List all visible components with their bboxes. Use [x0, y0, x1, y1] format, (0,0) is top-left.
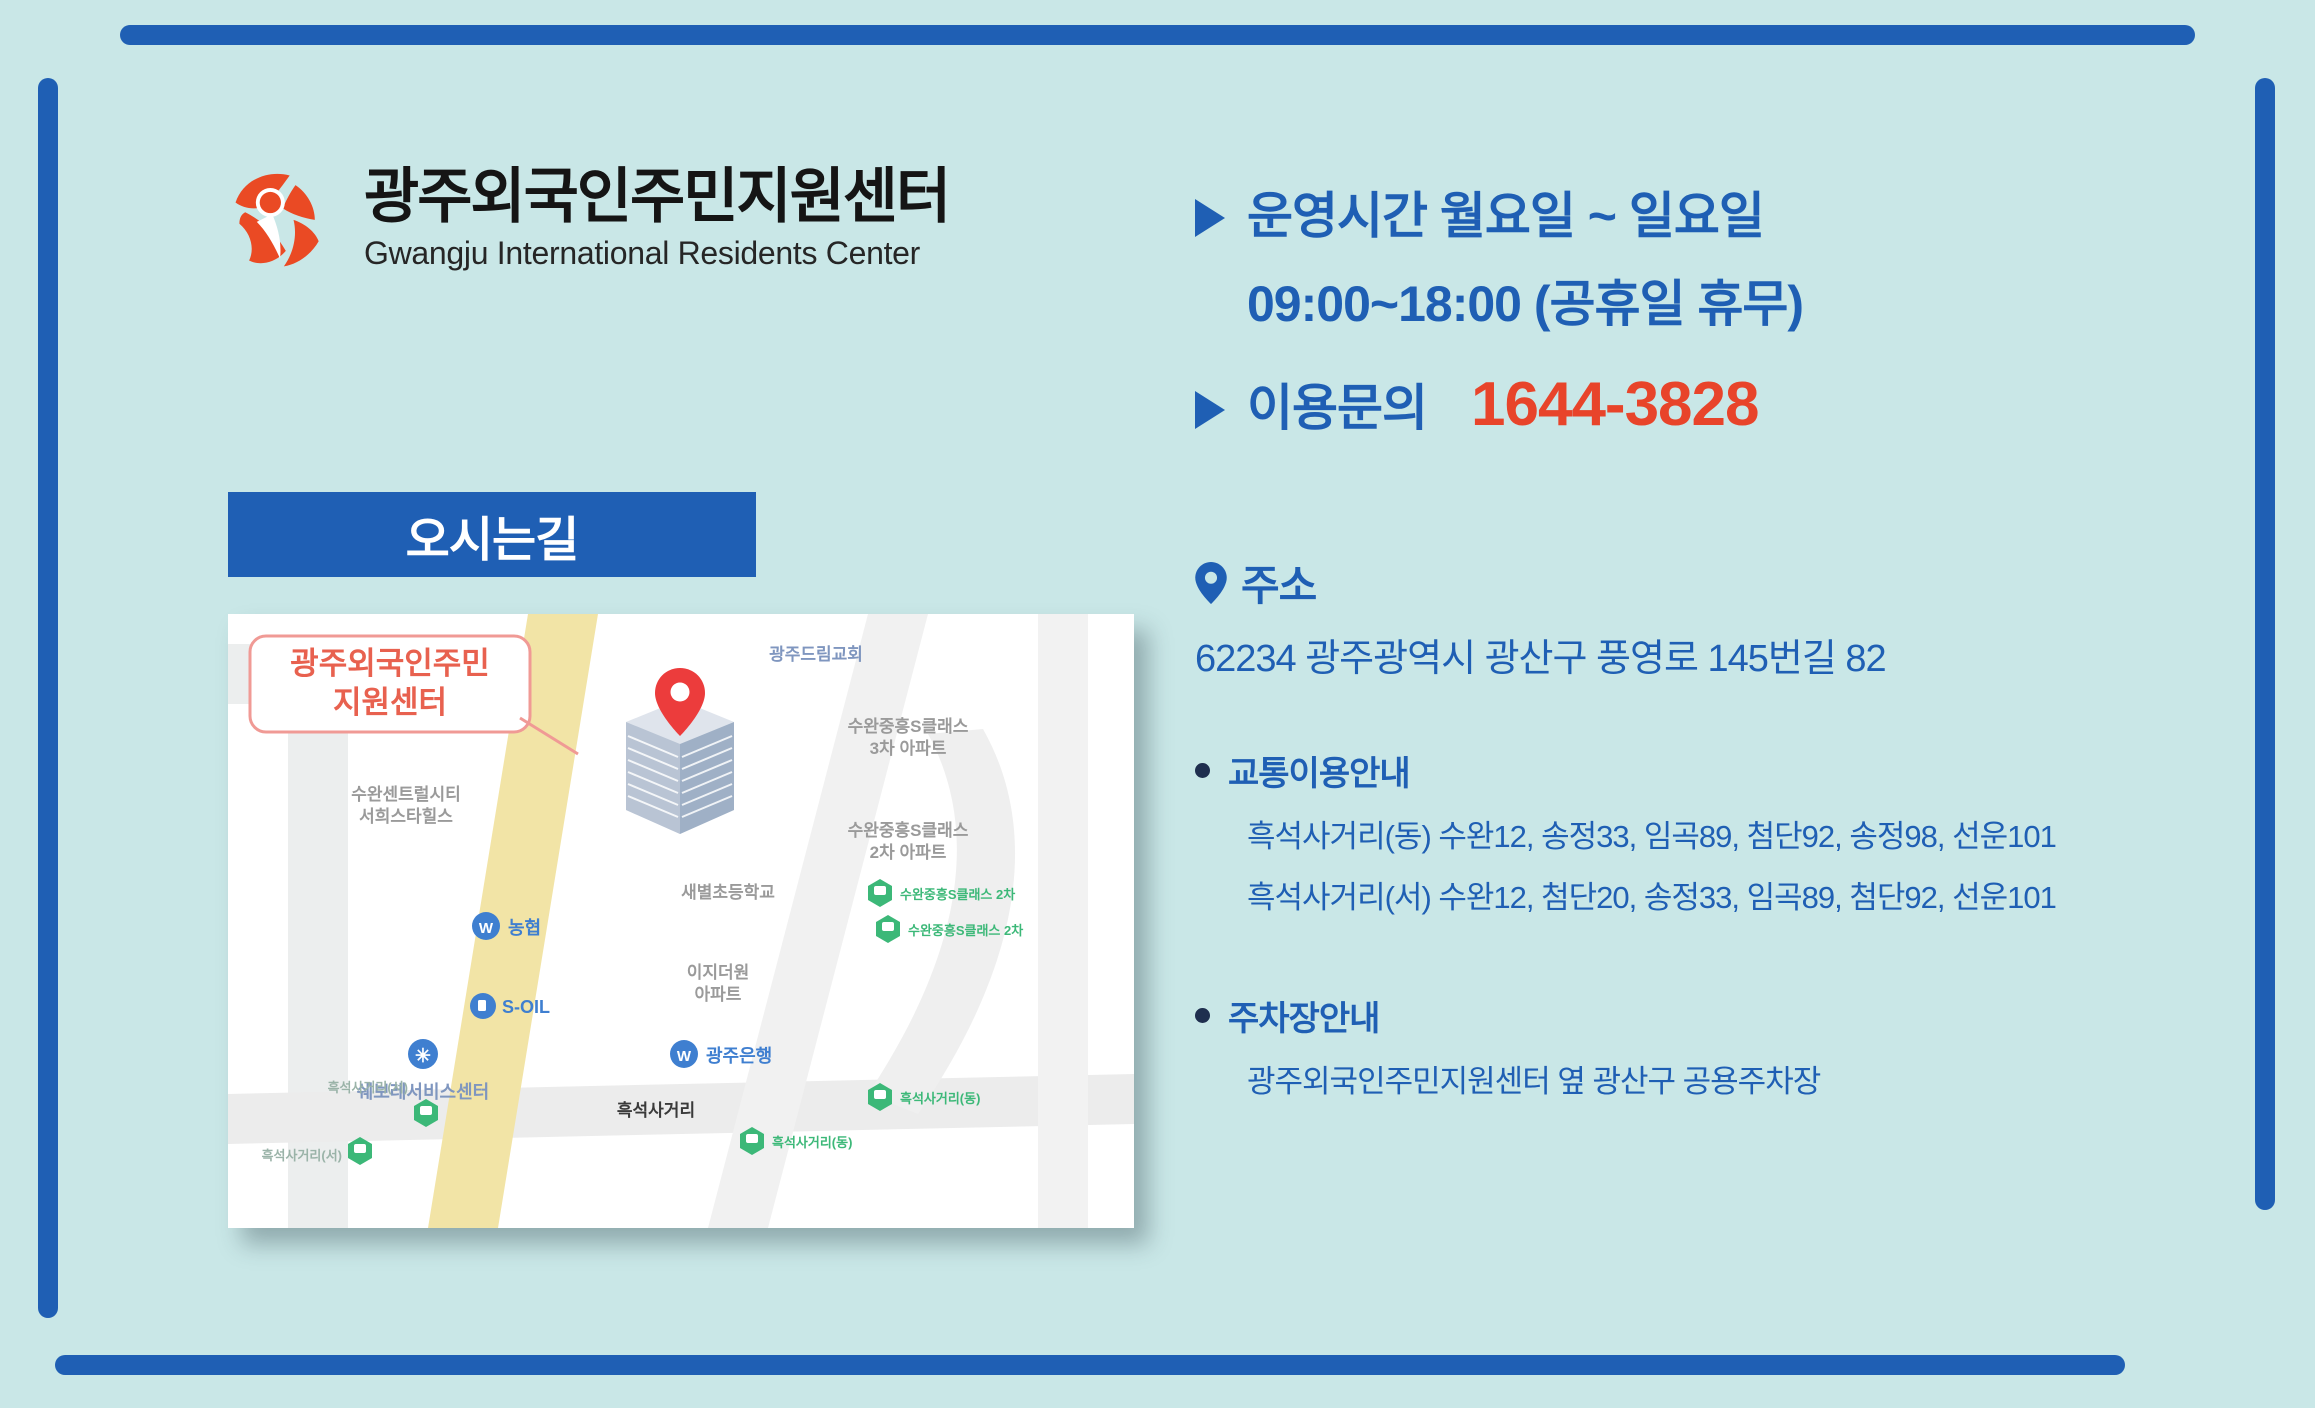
transport-title: 교통이용안내: [1228, 746, 1410, 795]
map-label-sclass3-2: 3차 아파트: [870, 739, 947, 758]
map-label-central-city-1: 수완센트럴시티: [351, 785, 460, 804]
gwangju-irc-logo-mark-icon: [222, 160, 338, 276]
logo-title-korean: 광주외국인주민지원센터: [364, 163, 949, 230]
directions-banner: 오시는길: [228, 492, 756, 577]
map-label-heukseok-intersection: 흑석사거리: [617, 1100, 695, 1120]
map-callout-line2: 지원센터: [333, 685, 447, 720]
address-value: 62234 광주광역시 광산구 풍영로 145번길 82: [1195, 627, 2215, 682]
bullet-dot-icon: [1195, 763, 1210, 778]
map-bus-stop-label-heukseok-east-b: 흑석사거리(동): [772, 1135, 852, 1150]
map-label-ezdaewon-2: 아파트: [695, 985, 742, 1004]
map-bus-stop-label-sclass-a: 수완중흥S클래스 2차: [900, 887, 1015, 902]
directions-banner-label: 오시는길: [406, 500, 579, 570]
operating-hours-row: 운영시간 월요일 ~ 일요일: [1195, 176, 2215, 248]
location-map[interactable]: 광주외국인주민 지원센터: [228, 614, 1134, 1228]
transport-head: 교통이용안내: [1195, 746, 2215, 795]
map-bus-stop-label-sclass-b: 수완중흥S클래스 2차: [908, 923, 1023, 938]
map-pin-icon: [1195, 562, 1227, 604]
logo-text-wrap: 광주외국인주민지원센터 Gwangju International Reside…: [364, 163, 949, 273]
inquiry-phone-number[interactable]: 1644-3828: [1471, 369, 1759, 440]
operating-hours-label: 운영시간 월요일 ~ 일요일: [1247, 176, 1764, 248]
map-label-ezdaewon-1: 이지더원: [687, 963, 750, 982]
map-poi-label-soil: S-OIL: [502, 997, 550, 1017]
map-poi-label-nonghyup: 농협: [508, 917, 541, 938]
inquiry-phone-row: 이용문의 1644-3828: [1195, 368, 2215, 440]
map-label-saebyeol-school: 새별초등학교: [681, 883, 775, 902]
map-label-dream-church: 광주드림교회: [769, 645, 863, 664]
info-column: 운영시간 월요일 ~ 일요일 09:00~18:00 (공휴일 휴무) 이용문의…: [1195, 176, 2215, 1101]
logo-title-english: Gwangju International Residents Center: [364, 234, 949, 272]
frame-bar-right: [2255, 78, 2275, 1210]
chevrolet-service-icon: ✳: [415, 1046, 431, 1067]
map-bus-stop-label-heukseok-east-a: 흑석사거리(동): [900, 1091, 980, 1106]
operating-hours-value: 09:00~18:00 (공휴일 휴무): [1247, 264, 2215, 336]
poster-root: 광주외국인주민지원센터 Gwangju International Reside…: [0, 0, 2315, 1408]
map-bus-stop-label-heukseok-west-a: 흑석사거리(서): [328, 1080, 408, 1095]
address-head: 주소: [1195, 552, 2215, 613]
location-map-graphic: 광주외국인주민 지원센터: [228, 614, 1134, 1228]
map-label-sclass2-2: 2차 아파트: [870, 843, 947, 862]
bullet-dot-icon: [1195, 1008, 1210, 1023]
transport-section: 교통이용안내 흑석사거리(동) 수완12, 송정33, 임곡89, 첨단92, …: [1195, 746, 2215, 917]
inquiry-label: 이용문의: [1247, 368, 1427, 440]
s-oil-gas-station-icon: [478, 1000, 486, 1011]
map-poi-soil: S-OIL: [470, 993, 550, 1019]
map-bus-stop-label-heukseok-west-b: 흑석사거리(서): [262, 1148, 342, 1163]
address-block: 주소 62234 광주광역시 광산구 풍영로 145번길 82: [1195, 552, 2215, 682]
triangle-right-icon: [1195, 199, 1225, 237]
map-poi-label-gwangju-bank: 광주은행: [706, 1046, 772, 1066]
parking-title: 주차장안내: [1228, 991, 1379, 1040]
nonghyup-bank-icon: W: [479, 920, 494, 937]
organization-logo: 광주외국인주민지원센터 Gwangju International Reside…: [222, 160, 949, 276]
map-label-sclass3-1: 수완중흥S클래스: [848, 716, 969, 736]
transport-line-west: 흑석사거리(서) 수완12, 첨단20, 송정33, 임곡89, 첨단92, 선…: [1247, 872, 2215, 917]
address-label: 주소: [1241, 552, 1316, 613]
triangle-right-icon: [1195, 391, 1225, 429]
gwangju-bank-icon: W: [677, 1048, 692, 1065]
transport-line-east: 흑석사거리(동) 수완12, 송정33, 임곡89, 첨단92, 송정98, 선…: [1247, 811, 2215, 856]
map-label-sclass2-1: 수완중흥S클래스: [848, 820, 969, 840]
map-callout-line1: 광주외국인주민: [290, 646, 490, 681]
parking-head: 주차장안내: [1195, 991, 2215, 1040]
frame-bar-left: [38, 78, 58, 1318]
parking-line: 광주외국인주민지원센터 옆 광산구 공용주차장: [1247, 1056, 2215, 1101]
frame-bar-top: [120, 25, 2195, 45]
parking-section: 주차장안내 광주외국인주민지원센터 옆 광산구 공용주차장: [1195, 991, 2215, 1101]
map-label-central-city-2: 서희스타힐스: [359, 806, 453, 826]
frame-bar-bottom: [55, 1355, 2125, 1375]
